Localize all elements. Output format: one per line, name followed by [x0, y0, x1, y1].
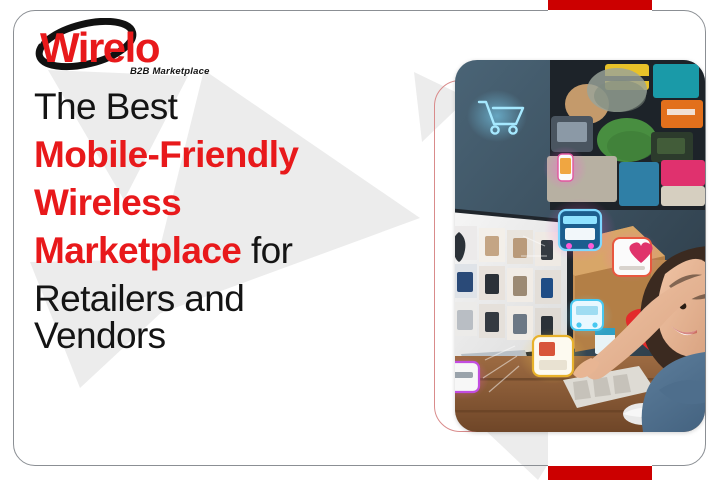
- headline-emphasis-marketplace: Marketplace: [34, 230, 241, 271]
- headline-line-3: Wireless: [34, 184, 434, 221]
- poster-canvas: Wirelo B2B Marketplace The Best Mobile-F…: [0, 0, 720, 480]
- logo-wordmark: Wirelo: [40, 24, 160, 71]
- headline-block: The Best Mobile-Friendly Wireless Market…: [34, 88, 434, 354]
- headline-line-2: Mobile-Friendly: [34, 136, 434, 173]
- headline-line-4: Marketplace for: [34, 232, 434, 269]
- logo-tagline: B2B Marketplace: [130, 66, 210, 77]
- headline-line-4-rest: for: [241, 230, 292, 271]
- hero-photo: [455, 60, 705, 432]
- headline-line-5: Retailers and: [34, 280, 434, 317]
- headline-line-6: Vendors: [34, 317, 434, 354]
- headline-line-1: The Best: [34, 88, 434, 125]
- brand-logo: Wirelo B2B Marketplace: [30, 18, 230, 80]
